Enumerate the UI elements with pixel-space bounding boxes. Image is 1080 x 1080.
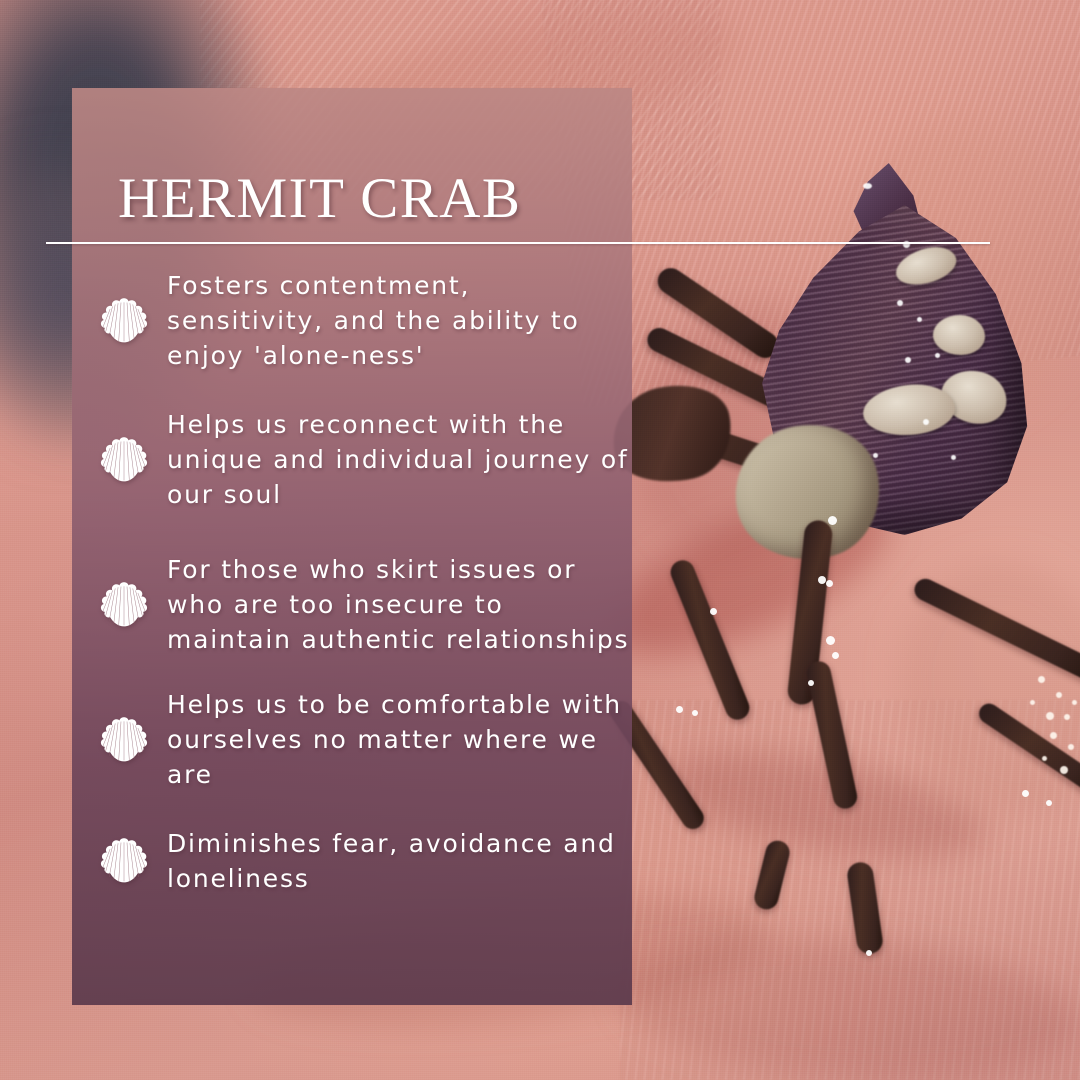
scallop-shell-icon <box>98 295 150 347</box>
list-item-text: Fosters contentment, sensitivity, and th… <box>167 268 632 373</box>
page-title: HERMIT CRAB <box>118 170 521 227</box>
title-divider <box>46 242 990 244</box>
list-item-text: Helps us reconnect with the unique and i… <box>167 407 632 512</box>
list-item-text: Diminishes fear, avoidance and lonelines… <box>167 826 632 896</box>
poster-canvas: HERMIT CRAB <box>0 0 1080 1080</box>
list-item: For those who skirt issues or who are to… <box>72 552 632 657</box>
list-item: Helps us to be comfortable with ourselve… <box>72 687 632 792</box>
scallop-shell-icon <box>98 835 150 887</box>
benefits-list: Fosters contentment, sensitivity, and th… <box>72 268 632 926</box>
scallop-shell-icon <box>98 579 150 631</box>
list-item-text: For those who skirt issues or who are to… <box>167 552 632 657</box>
list-item: Fosters contentment, sensitivity, and th… <box>72 268 632 373</box>
scallop-shell-icon <box>98 434 150 486</box>
list-item: Helps us reconnect with the unique and i… <box>72 407 632 512</box>
list-item: Diminishes fear, avoidance and lonelines… <box>72 826 632 896</box>
list-item-text: Helps us to be comfortable with ourselve… <box>167 687 632 792</box>
scallop-shell-icon <box>98 714 150 766</box>
